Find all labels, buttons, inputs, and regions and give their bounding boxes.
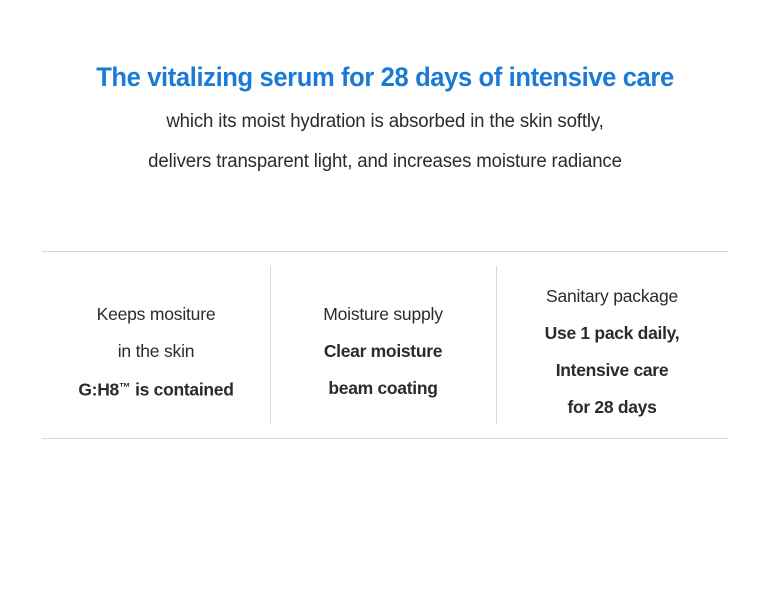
feature-column-moisture-supply: Moisture supply Clear moisture beam coat… (270, 296, 496, 407)
feature-line-tail: is contained (131, 379, 234, 399)
subtitle-line-2: delivers transparent light, and increase… (8, 150, 763, 174)
feature-line: in the skin (42, 333, 270, 370)
feature-line: Sanitary package (496, 278, 728, 315)
feature-line: Keeps mositure (42, 296, 270, 333)
page-title: The vitalizing serum for 28 days of inte… (13, 62, 756, 92)
trademark-icon: ™ (119, 382, 131, 394)
feature-line-trademark: G:H8™ is contained (42, 370, 270, 408)
feature-line: Moisture supply (270, 296, 496, 333)
divider-bottom (42, 438, 728, 439)
feature-line: beam coating (270, 370, 496, 407)
subtitle-line-1: which its moist hydration is absorbed in… (8, 110, 763, 134)
feature-columns: Keeps mositure in the skin G:H8™ is cont… (42, 252, 728, 438)
feature-line: Intensive care (496, 352, 728, 389)
feature-line: Clear moisture (270, 333, 496, 370)
feature-column-keeps-moisture: Keeps mositure in the skin G:H8™ is cont… (42, 296, 270, 408)
feature-line-base: G:H8 (78, 379, 119, 399)
product-description-panel: The vitalizing serum for 28 days of inte… (0, 0, 770, 592)
feature-line: for 28 days (496, 389, 728, 426)
feature-column-sanitary-package: Sanitary package Use 1 pack daily, Inten… (496, 278, 728, 426)
feature-line: Use 1 pack daily, (496, 315, 728, 352)
